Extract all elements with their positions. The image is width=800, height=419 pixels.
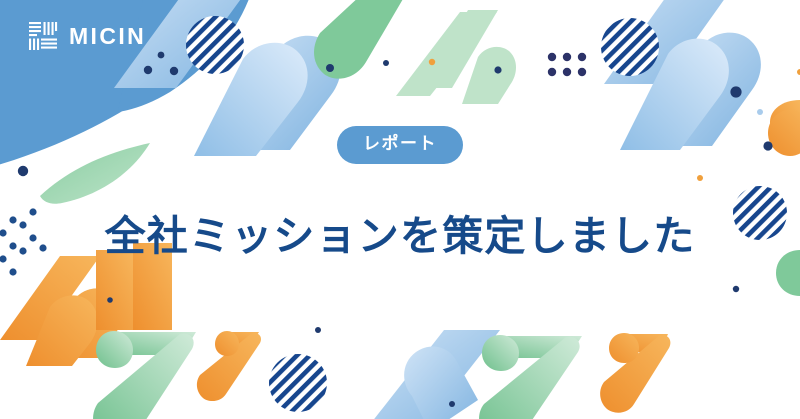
dot-grid-left xyxy=(0,208,47,275)
orange-teardrop-right xyxy=(768,100,800,156)
banner-title: 全社ミッションを策定しました xyxy=(105,213,696,260)
micin-report-banner: MICIN レポート 全社ミッションを策定しました xyxy=(0,0,800,419)
micin-woven-square-logo-icon xyxy=(28,21,58,51)
brand-logo-text: MICIN xyxy=(69,25,146,48)
decorative-background xyxy=(0,0,800,419)
green-sliver-under-blob xyxy=(40,143,150,204)
orange-seven-bottom-right xyxy=(600,333,670,413)
striped-circle-top-right xyxy=(601,18,659,76)
pale-blue-dot-accents xyxy=(757,109,763,115)
orange-seven-bottom-left xyxy=(197,331,261,401)
dot-grid-top-right xyxy=(548,53,586,76)
green-seven-bottom-right xyxy=(479,335,582,419)
striped-circle-bottom-center xyxy=(269,354,327,412)
green-chevron-top-center xyxy=(396,10,516,104)
green-seven-bottom-left xyxy=(93,331,196,419)
striped-circle-top-left xyxy=(186,16,244,74)
category-badge[interactable]: レポート xyxy=(337,126,463,165)
brand-logo[interactable]: MICIN xyxy=(28,21,146,51)
blue-chevron-bottom-center xyxy=(364,330,500,419)
striped-circle-right xyxy=(733,186,787,240)
green-pill-right-edge xyxy=(776,250,800,296)
